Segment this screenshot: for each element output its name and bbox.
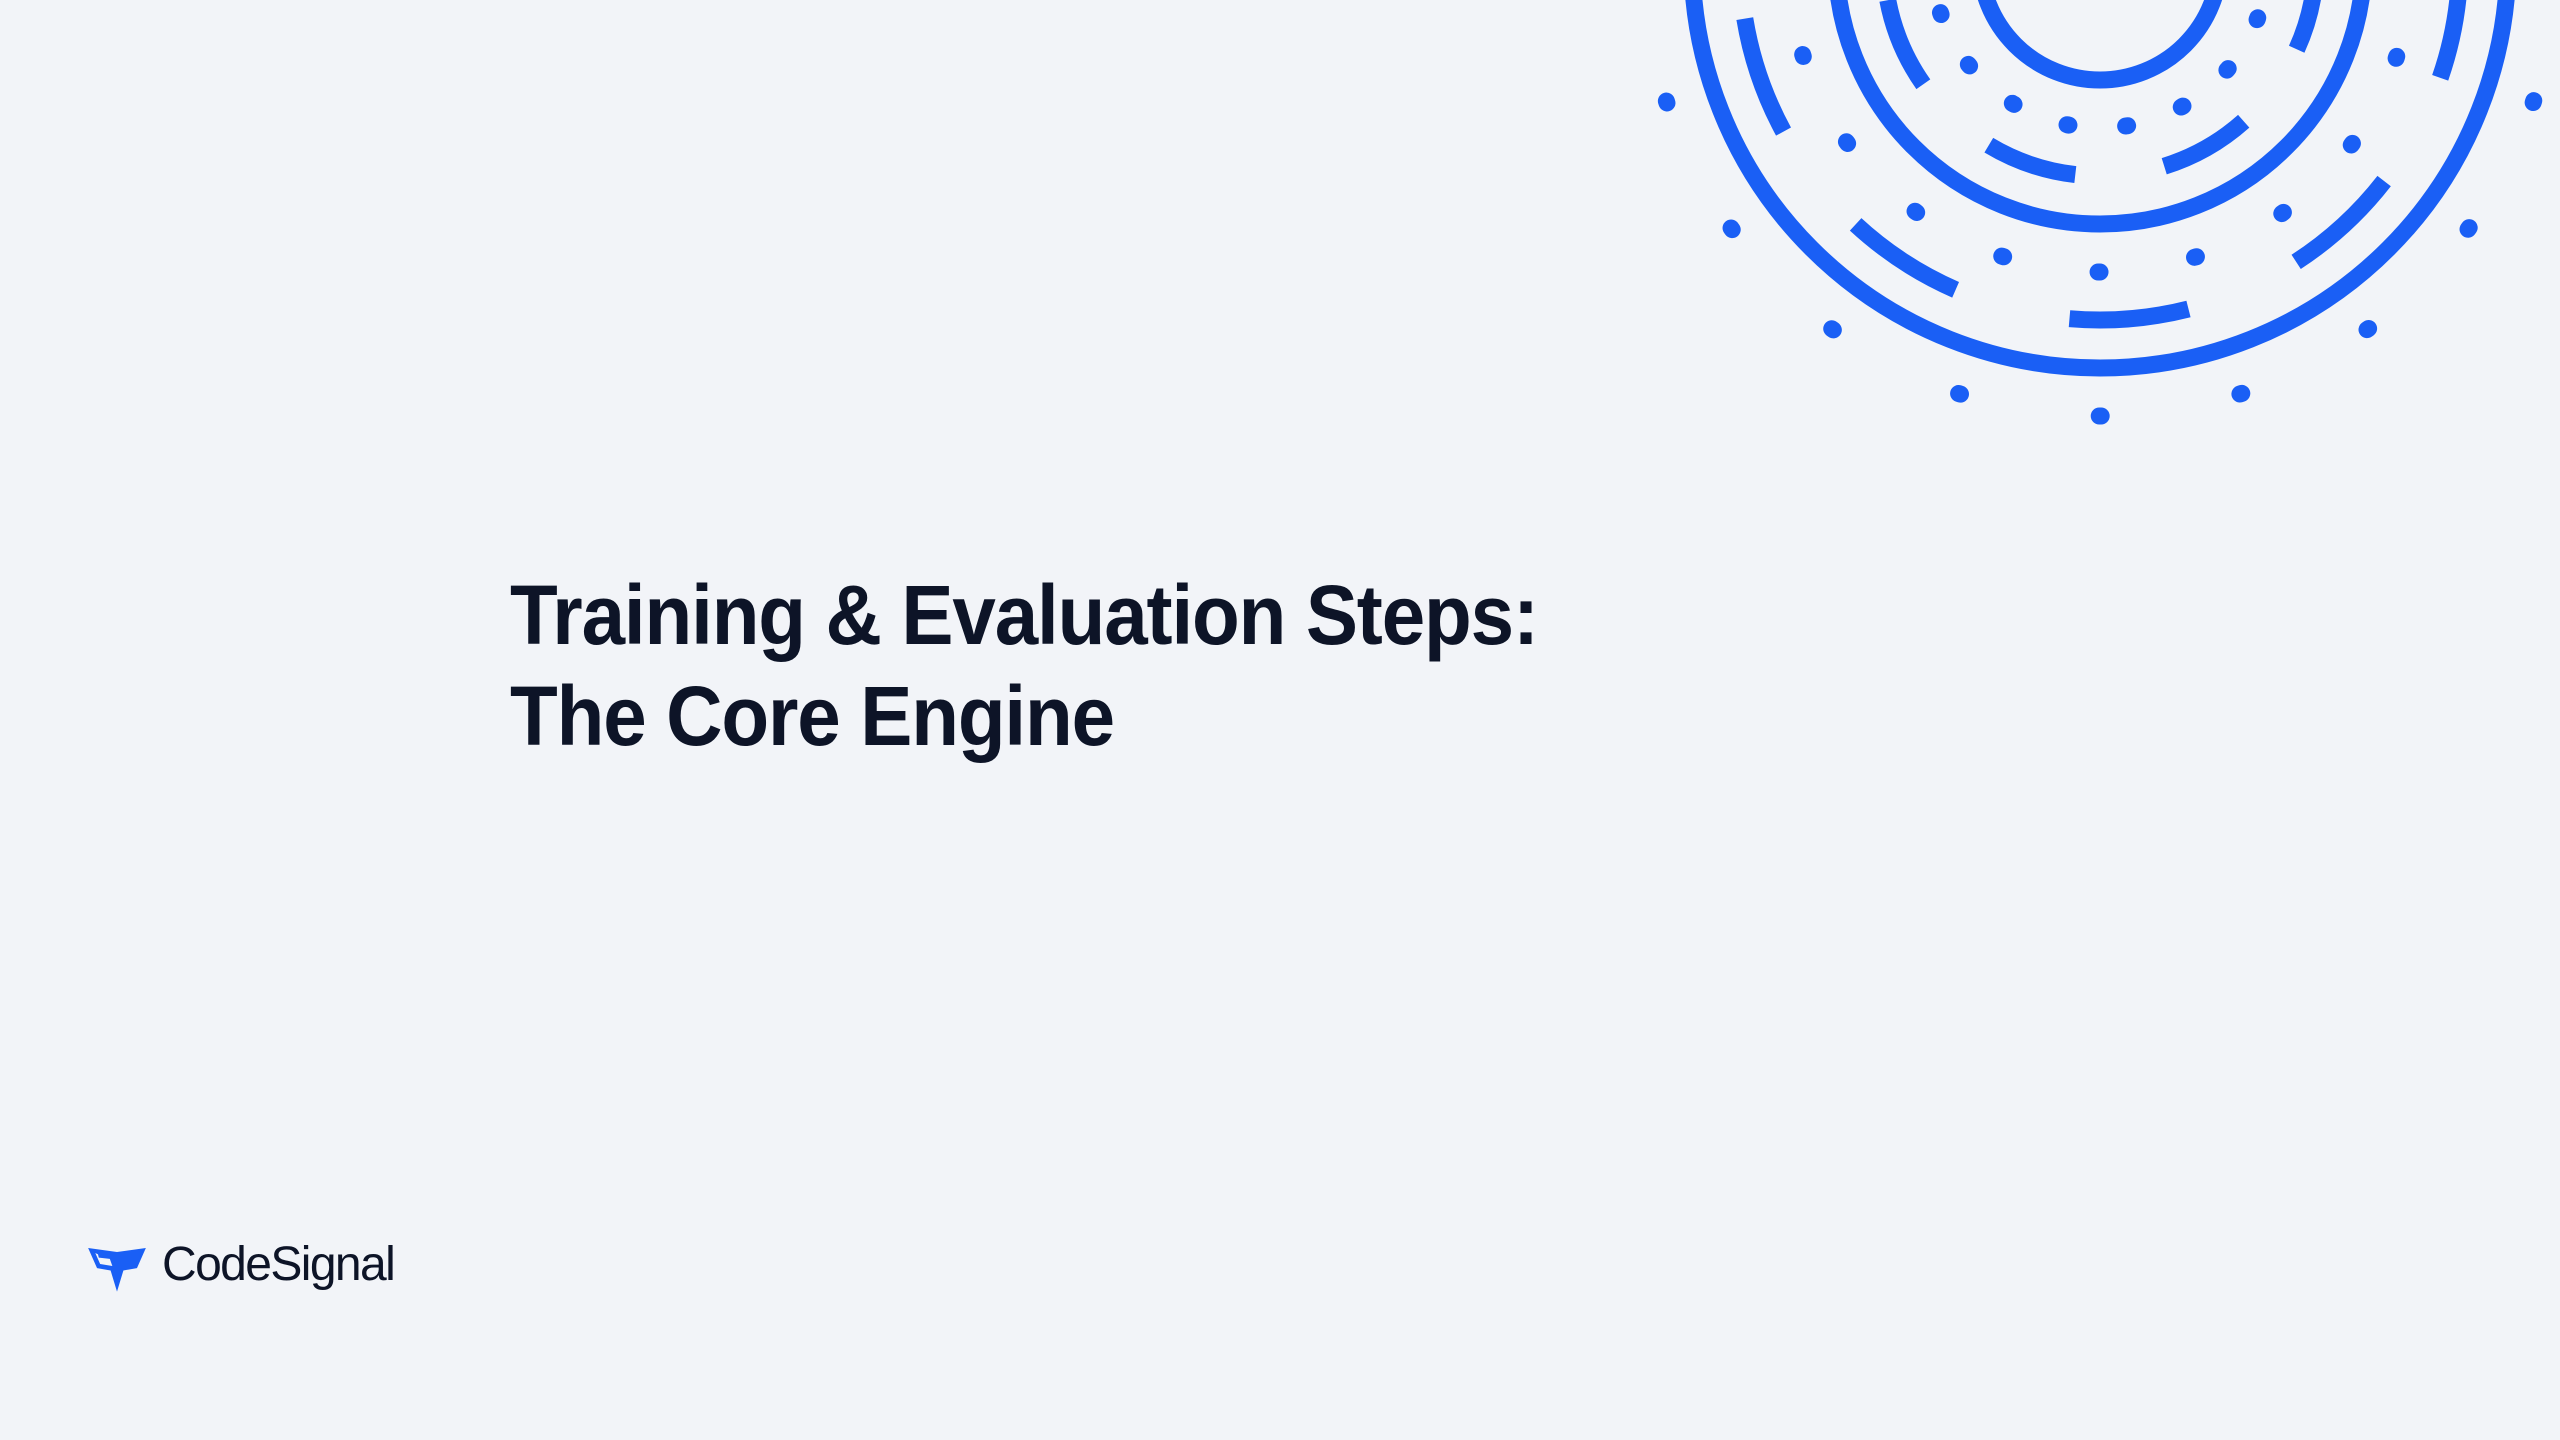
- ring-dots-3: [1644, 0, 2556, 416]
- ring-dashes-1: [1884, 0, 2316, 176]
- ring-solid-inner: [1980, 0, 2220, 80]
- brand-logo: CodeSignal: [86, 1235, 394, 1297]
- slide-canvas: Training & Evaluation Steps: The Core En…: [0, 0, 2560, 1440]
- ring-solid-outer: [1692, 0, 2508, 368]
- ring-dots-2: [1788, 0, 2412, 272]
- brand-wordmark: CodeSignal: [162, 1241, 394, 1289]
- ring-dashes-2: [1740, 0, 2460, 320]
- title-line-1: Training & Evaluation Steps:: [510, 565, 1905, 666]
- ring-dots-1: [1932, 0, 2268, 128]
- codesignal-bird-icon: [86, 1235, 148, 1297]
- title-line-2: The Core Engine: [510, 666, 1905, 767]
- concentric-rings-decoration: [1580, 0, 2560, 480]
- page-title: Training & Evaluation Steps: The Core En…: [510, 565, 2010, 767]
- ring-solid-mid: [1836, 0, 2364, 224]
